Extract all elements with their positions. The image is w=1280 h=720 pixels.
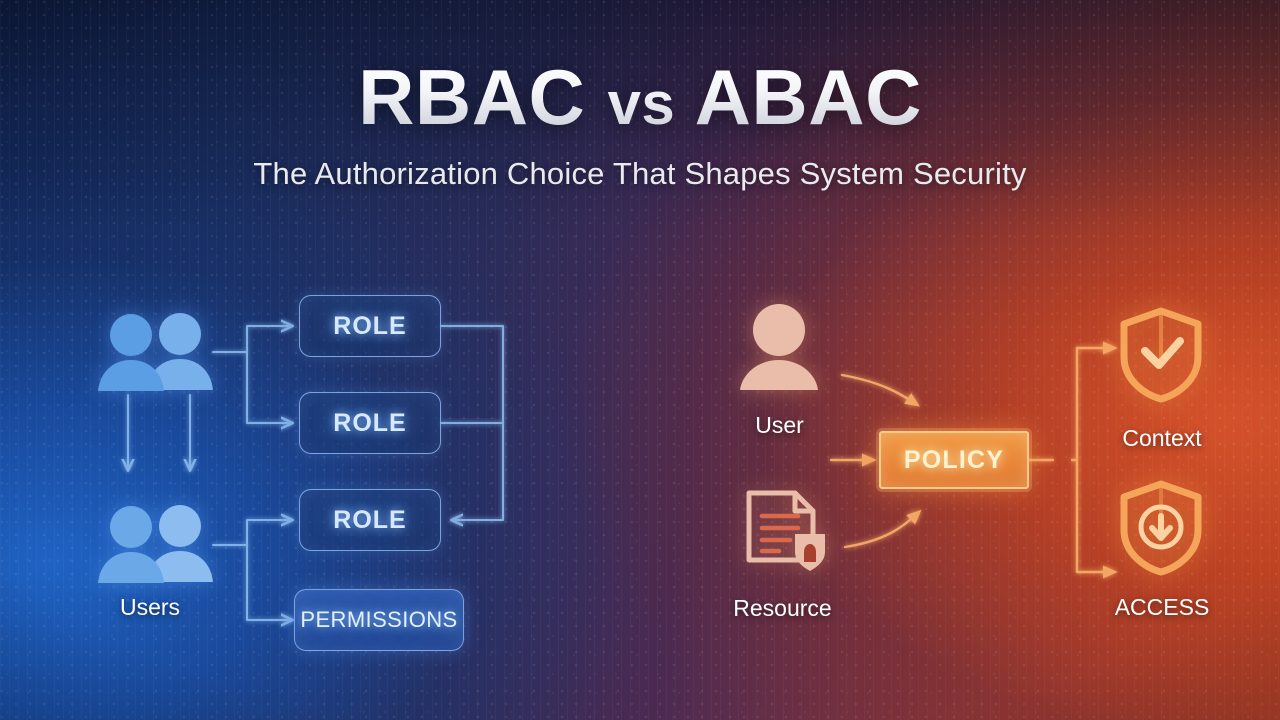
policy-box[interactable]: POLICY <box>879 431 1029 489</box>
user-label: User <box>722 412 837 439</box>
user-icon <box>740 302 818 390</box>
users-label: Users <box>90 594 210 621</box>
title-rbac: RBAC <box>358 53 585 141</box>
context-label: Context <box>1092 425 1232 452</box>
document-lock-icon <box>745 490 831 574</box>
permissions-box[interactable]: PERMISSIONS <box>294 589 464 651</box>
permissions-box-label: PERMISSIONS <box>300 607 457 633</box>
page-title: RBAC vs ABAC <box>0 58 1280 136</box>
users-group-icon-top <box>98 310 216 396</box>
title-abac: ABAC <box>695 53 922 141</box>
shield-download-icon <box>1118 480 1204 576</box>
title-vs: vs <box>608 70 676 137</box>
shield-check-icon <box>1118 307 1204 403</box>
users-group-icon-bottom <box>98 502 216 588</box>
resource-label: Resource <box>700 595 865 622</box>
role-box-2[interactable]: ROLE <box>299 392 441 454</box>
role-box-2-label: ROLE <box>333 409 406 438</box>
access-label: ACCESS <box>1092 594 1232 621</box>
role-box-1-label: ROLE <box>333 312 406 341</box>
header: RBAC vs ABAC The Authorization Choice Th… <box>0 0 1280 192</box>
role-box-1[interactable]: ROLE <box>299 295 441 357</box>
slide-canvas: RBAC vs ABAC The Authorization Choice Th… <box>0 0 1280 720</box>
role-box-3-label: ROLE <box>333 506 406 535</box>
page-subtitle: The Authorization Choice That Shapes Sys… <box>0 156 1280 192</box>
policy-box-label: POLICY <box>904 446 1004 475</box>
role-box-3[interactable]: ROLE <box>299 489 441 551</box>
